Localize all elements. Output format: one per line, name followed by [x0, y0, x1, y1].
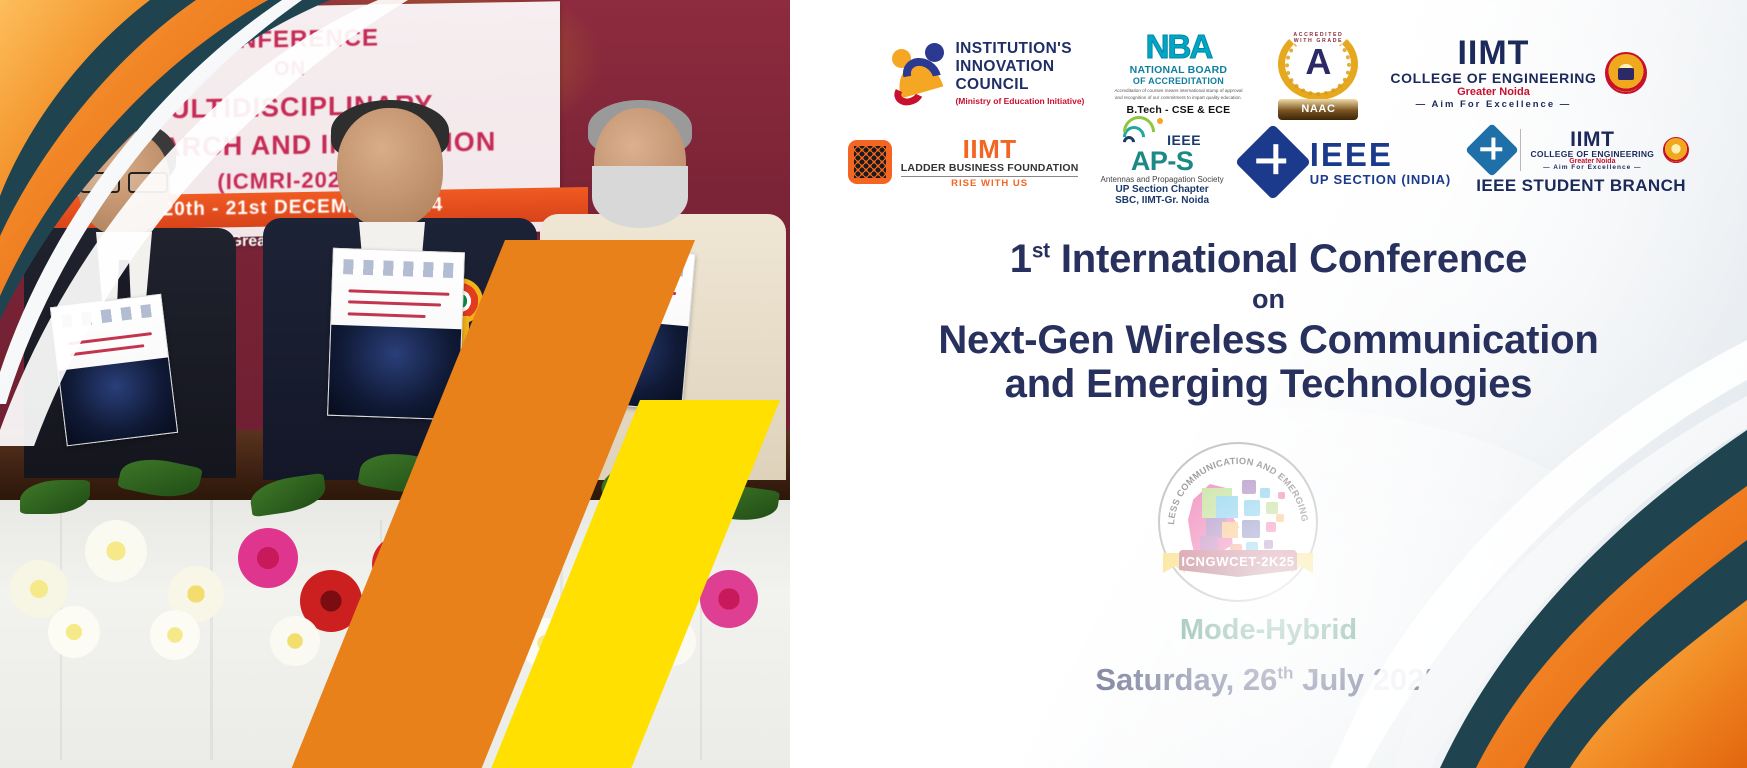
nba-sub-1: NATIONAL BOARD — [1110, 64, 1246, 76]
sb-iimt-college-line: COLLEGE OF ENGINEERING — [1530, 150, 1654, 159]
title-line-3: and Emerging Technologies — [790, 362, 1747, 407]
title-line-1-rest: International Conference — [1050, 237, 1527, 281]
lbf-full-name: LADDER BUSINESS FOUNDATION — [901, 163, 1079, 177]
sb-iimt-tagline: — Aim For Excellence — — [1530, 165, 1654, 172]
iic-line-2: INNOVATION — [955, 58, 1084, 76]
event-date-day: Saturday, 26 — [1095, 662, 1277, 697]
logo-ieee-up-section: IEEE UP SECTION (INDIA) — [1246, 135, 1451, 189]
iic-line-3: COUNCIL — [955, 76, 1084, 94]
content-panel: INSTITUTION'S INNOVATION COUNCIL (Minist… — [790, 0, 1747, 768]
emblem-ribbon: ICNGWCET-2K25 — [1163, 546, 1313, 582]
event-mode-label: Mode-Hybrid — [790, 614, 1747, 647]
ieee-section-line: UP SECTION (INDIA) — [1310, 173, 1451, 186]
aps-wordmark: AP-S — [1100, 148, 1223, 175]
ribbon-end-left — [1163, 553, 1185, 573]
lbf-wordmark: IIMT — [901, 135, 1079, 164]
iic-emblem-icon — [890, 41, 946, 105]
nba-mark-icon: NBA — [1146, 30, 1212, 63]
ieee-wordmark: IEEE — [1310, 138, 1451, 171]
ieee-diamond-icon — [1235, 124, 1311, 200]
naac-plate-label: NAAC — [1278, 99, 1358, 120]
logo-iic: INSTITUTION'S INNOVATION COUNCIL (Minist… — [890, 40, 1084, 107]
iimt-city-line: Greater Noida — [1390, 87, 1596, 98]
event-date-label: Saturday, 26th July 2025 — [790, 662, 1747, 698]
logo-ieee-aps: IEEE AP-S Antennas and Propagation Socie… — [1100, 118, 1223, 206]
emblem-ribbon-label: ICNGWCET-2K25 — [1179, 554, 1297, 569]
iimt-tagline: — Aim For Excellence — — [1390, 100, 1596, 110]
iimt-college-line: COLLEGE OF ENGINEERING — [1390, 71, 1596, 85]
ieee-student-branch-label: IEEE STUDENT BRANCH — [1473, 176, 1689, 196]
title-ordinal-suffix: st — [1032, 240, 1050, 263]
eyeglasses-icon — [80, 172, 168, 189]
logo-naac: ACCREDITED WITH GRADE A NAAC — [1272, 24, 1364, 122]
pixelated-head-icon — [1186, 474, 1290, 570]
svg-text:NEXT-GEN WIRELESS COMMUNICATIO: NEXT-GEN WIRELESS COMMUNICATION AND EMER… — [1158, 442, 1310, 525]
title-connector: on — [790, 281, 1747, 317]
emblem-ring — [1158, 442, 1318, 602]
backdrop-line-2: ON — [20, 53, 560, 85]
emblem-arc-text: NEXT-GEN WIRELESS COMMUNICATION AND EMER… — [1158, 442, 1318, 602]
sb-iimt-crest-icon — [1663, 137, 1689, 163]
antenna-waves-icon — [1123, 118, 1163, 148]
logo-row-1: INSTITUTION'S INNOVATION COUNCIL (Minist… — [790, 0, 1747, 116]
nba-fine-print: Accreditation of courses means internati… — [1110, 88, 1246, 100]
iic-line-1: INSTITUTION'S — [955, 40, 1084, 58]
logo-ladder-business-foundation: IIMT LADDER BUSINESS FOUNDATION RISE WIT… — [848, 135, 1079, 190]
lbf-tagline: RISE WITH US — [901, 179, 1079, 189]
title-ordinal: 1 — [1010, 237, 1032, 281]
conference-emblem: NEXT-GEN WIRELESS COMMUNICATION AND EMER… — [1158, 442, 1318, 602]
logo-row-2: IIMT LADDER BUSINESS FOUNDATION RISE WIT… — [790, 116, 1747, 208]
conference-banner: CONFERENCE ON MULTIDISCIPLINARY RESEARCH… — [0, 0, 1747, 768]
backdrop-line-1: CONFERENCE — [20, 21, 560, 58]
ladder-dots-icon — [848, 140, 892, 184]
logo-ieee-student-branch: IIMT COLLEGE OF ENGINEERING Greater Noid… — [1473, 129, 1689, 196]
divider — [1520, 129, 1522, 171]
event-date-suffix: th — [1277, 664, 1293, 683]
title-line-1: 1st International Conference — [790, 238, 1747, 281]
nba-sub-2: OF ACCREDITATION — [1110, 76, 1246, 86]
iic-subtitle: (Ministry of Education Initiative) — [955, 97, 1084, 107]
nba-btech-label: B.Tech - CSE & ECE — [1110, 104, 1246, 116]
sb-iimt-wordmark: IIMT — [1530, 129, 1654, 150]
ribbon-body: ICNGWCET-2K25 — [1179, 550, 1297, 577]
event-date-rest: July 2025 — [1293, 662, 1441, 697]
ribbon-end-right — [1291, 553, 1313, 573]
ieee-sb-diamond-icon — [1465, 123, 1519, 177]
conference-title-block: 1st International Conference on Next-Gen… — [790, 238, 1747, 407]
iimt-crest-icon — [1605, 52, 1647, 94]
iimt-wordmark: IIMT — [1390, 36, 1596, 70]
logo-nba: NBA NATIONAL BOARD OF ACCREDITATION Accr… — [1110, 30, 1246, 115]
logo-iimt-college: IIMT COLLEGE OF ENGINEERING Greater Noid… — [1390, 36, 1646, 110]
aps-society-line: Antennas and Propagation Society — [1100, 176, 1223, 184]
aps-sbc-line: SBC, IIMT-Gr. Noida — [1100, 196, 1223, 207]
title-line-2: Next-Gen Wireless Communication — [790, 318, 1747, 363]
naac-grade-letter: A — [1272, 44, 1364, 80]
sponsor-logo-bar: INSTITUTION'S INNOVATION COUNCIL (Minist… — [790, 0, 1747, 208]
